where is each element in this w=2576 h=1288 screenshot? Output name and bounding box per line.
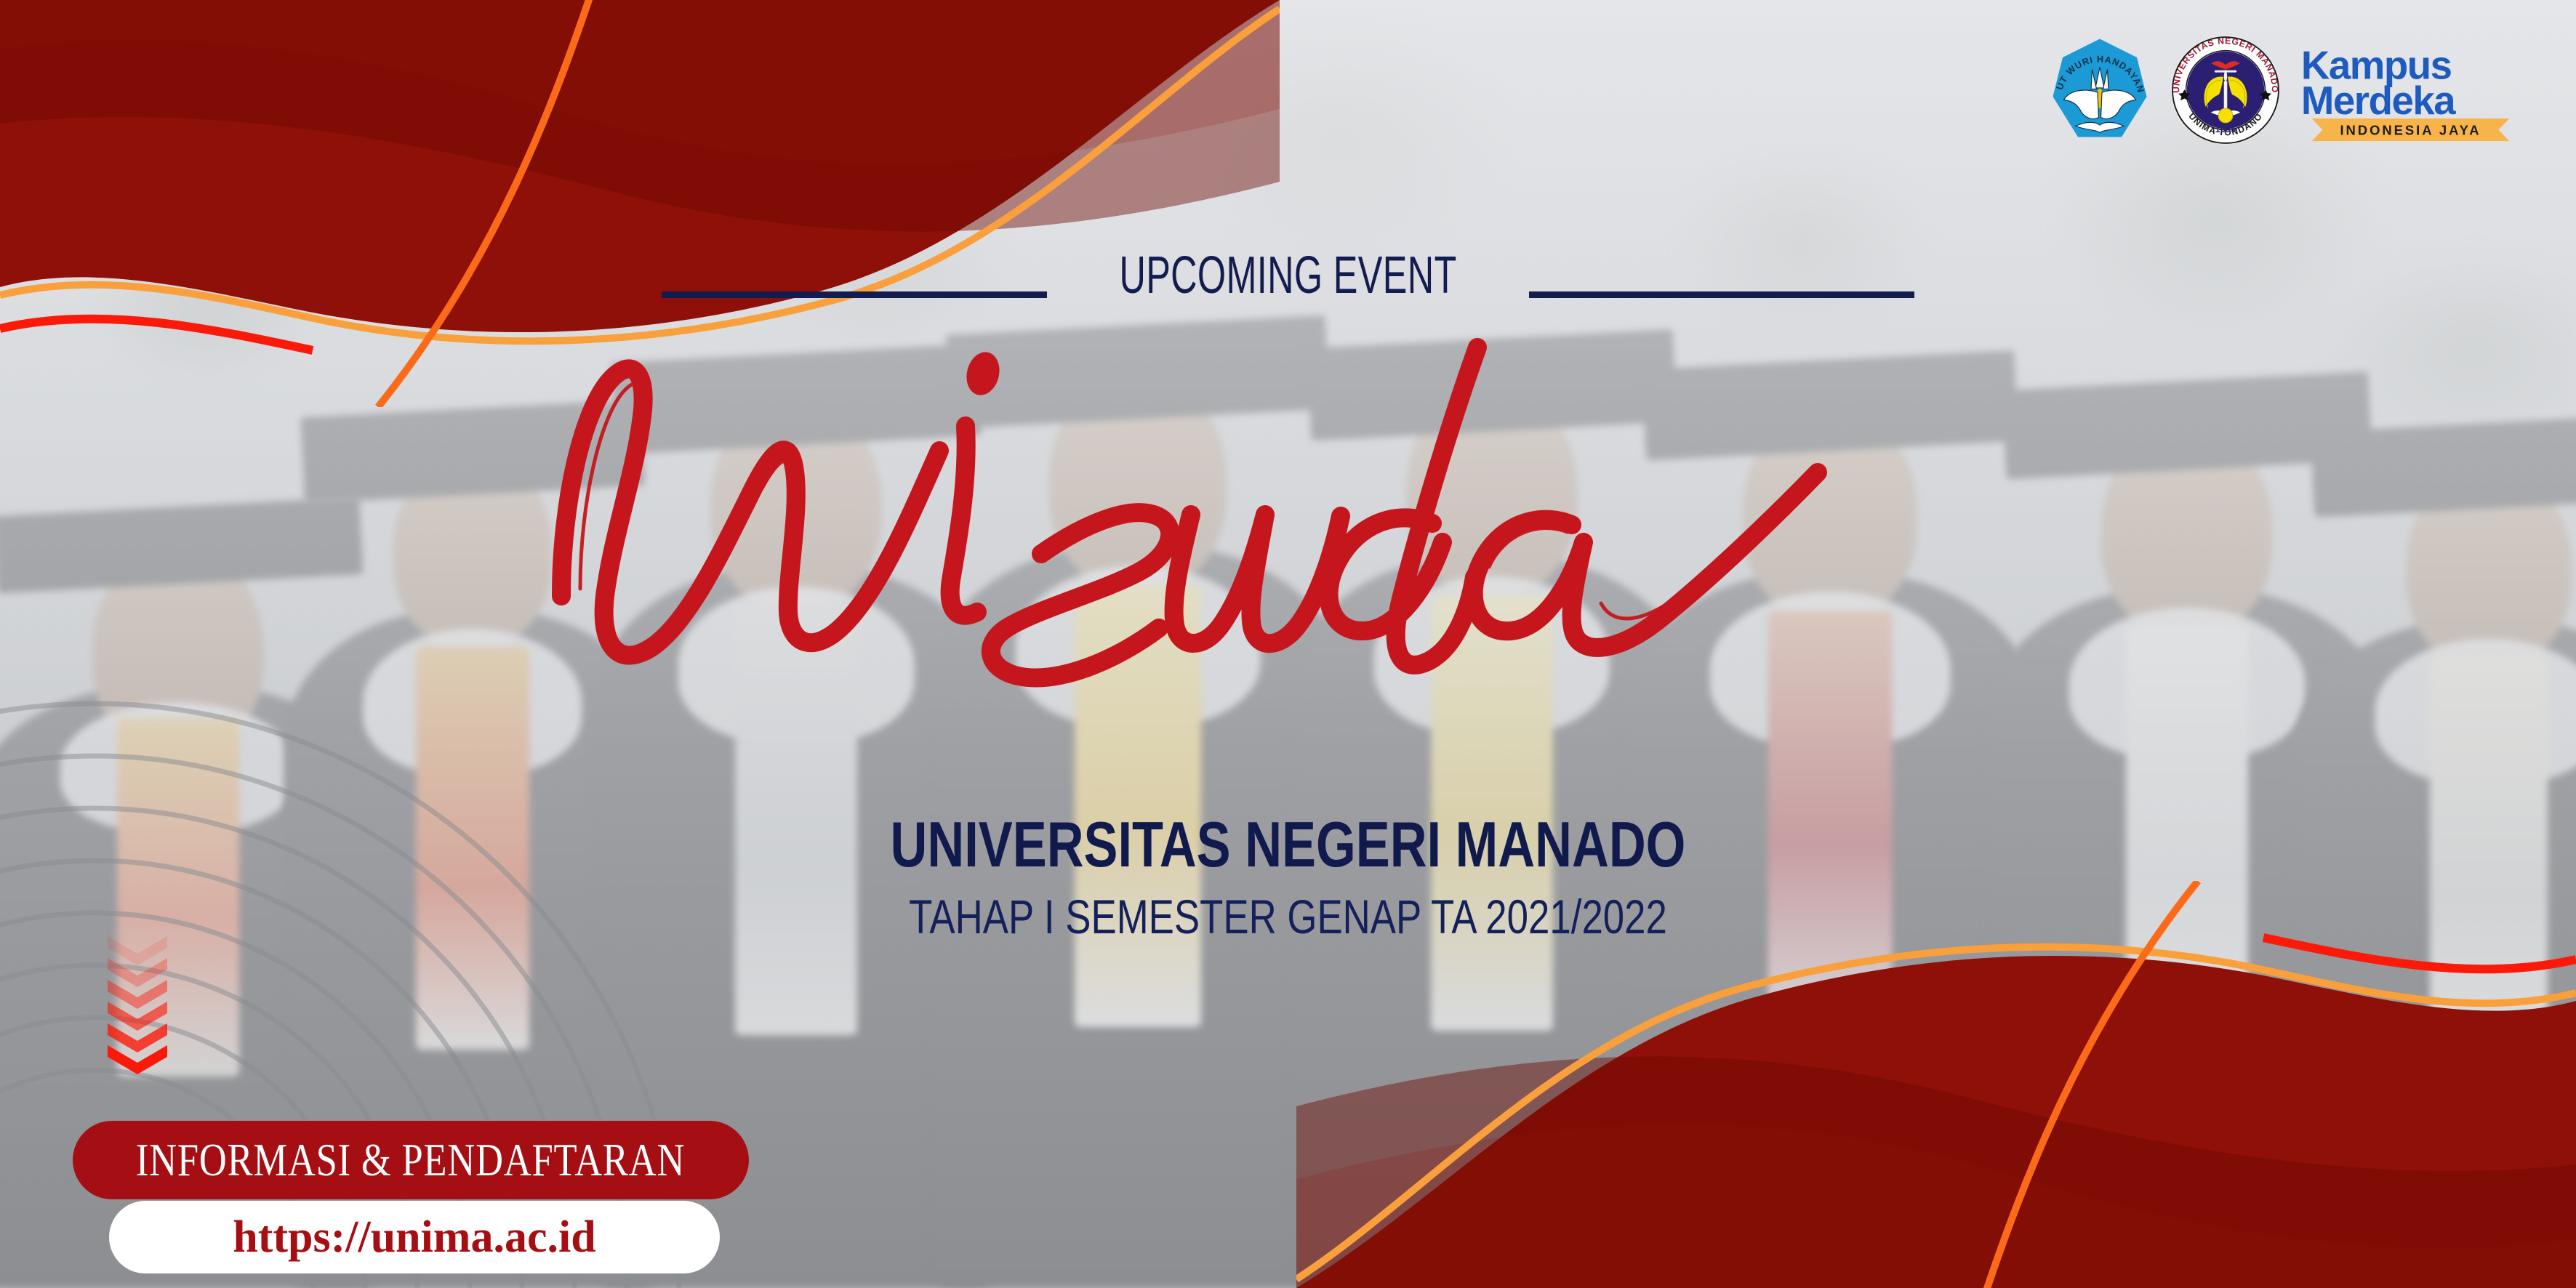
institution-title: UNIVERSITAS NEGERI MANADO	[257, 813, 2318, 877]
logo-row: TUT WURI HANDAYANI UNIVERSITAS NEGERI MA…	[2045, 35, 2522, 145]
svg-text:1955: 1955	[2215, 124, 2236, 134]
registration-info-badge: INFORMASI & PENDAFTARAN	[73, 1121, 749, 1199]
wisuda-announcement-banner: TUT WURI HANDAYANI UNIVERSITAS NEGERI MA…	[0, 0, 2576, 1288]
website-url-badge[interactable]: https://unima.ac.id	[109, 1201, 720, 1273]
universitas-negeri-manado-seal: UNIVERSITAS NEGERI MANADO UNIMA TONDANO …	[2170, 35, 2281, 145]
svg-text:INDONESIA JAYA: INDONESIA JAYA	[2340, 122, 2481, 137]
headline-block: UNIVERSITAS NEGERI MANADO TAHAP I SEMEST…	[0, 813, 2576, 941]
kampus-merdeka-logo: Kampus Merdeka INDONESIA JAYA	[2297, 39, 2522, 142]
svg-text:Merdeka: Merdeka	[2301, 79, 2456, 123]
wisuda-wordmark	[0, 283, 2576, 734]
chevron-arrows-decoration	[108, 936, 167, 1082]
registration-info-label: INFORMASI & PENDAFTARAN	[136, 1133, 685, 1187]
tut-wuri-handayani-logo: TUT WURI HANDAYANI	[2045, 36, 2154, 145]
website-url-label[interactable]: https://unima.ac.id	[233, 1212, 596, 1263]
event-subtitle: TAHAP I SEMESTER GENAP TA 2021/2022	[257, 893, 2318, 941]
wisuda-script-lettering	[532, 283, 2045, 734]
